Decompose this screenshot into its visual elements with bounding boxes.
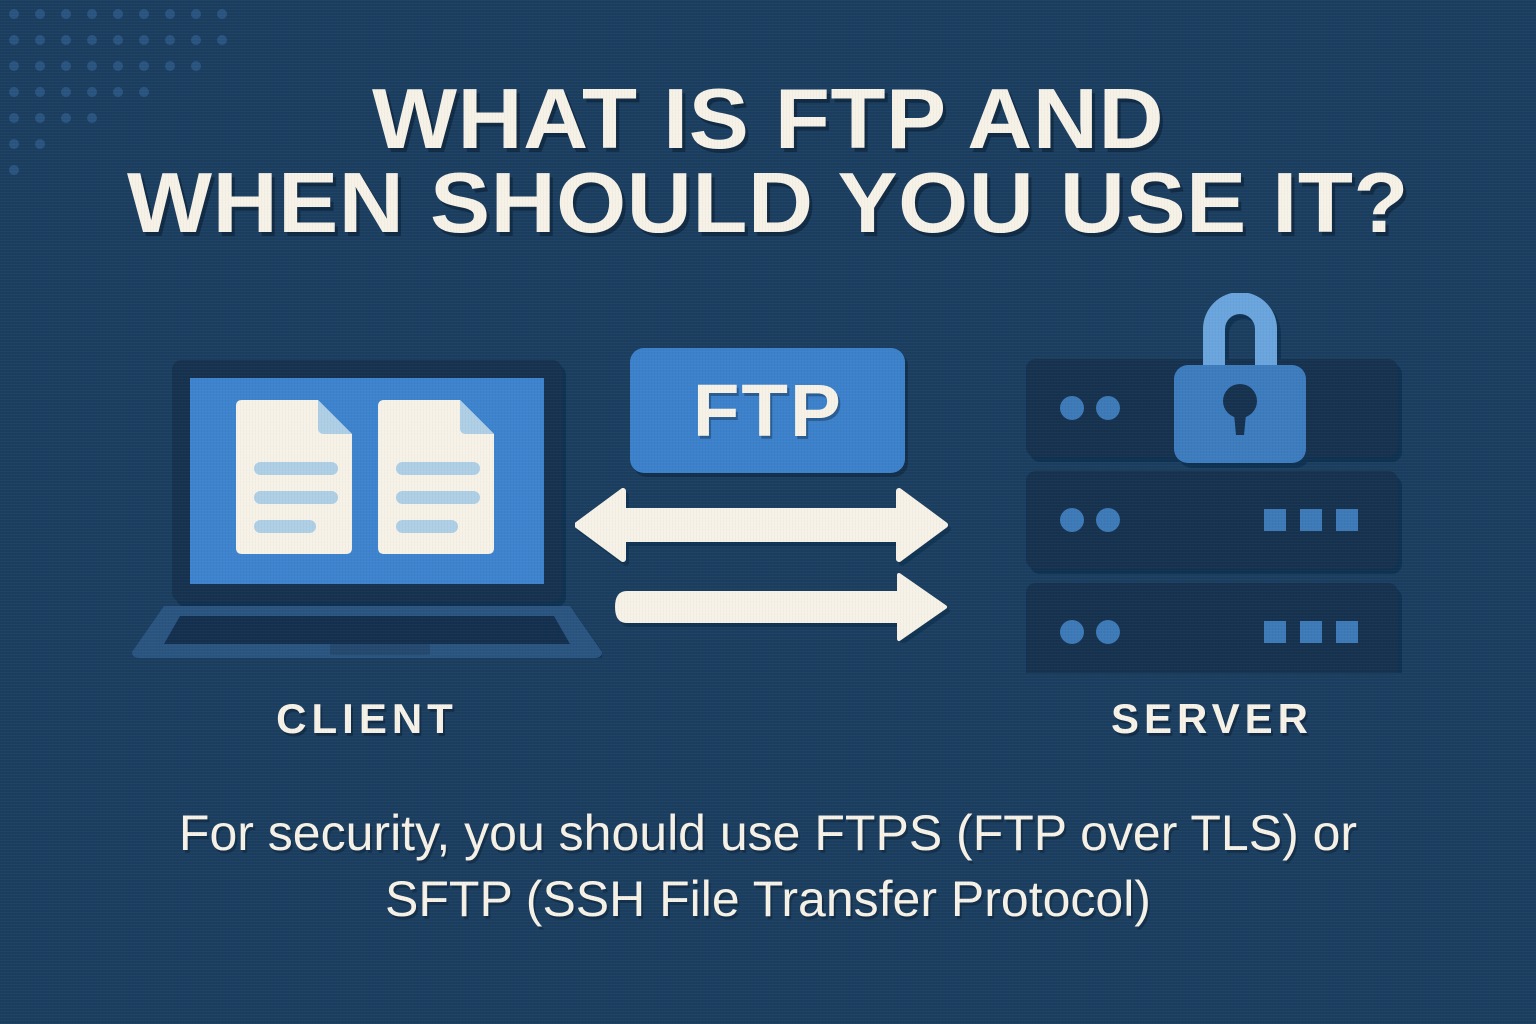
server-rack-icon xyxy=(1012,293,1412,673)
laptop-icon xyxy=(132,358,602,658)
rack-unit-2 xyxy=(1026,471,1398,569)
footer-line-1: For security, you should use FTPS (FTP o… xyxy=(0,800,1536,866)
title-line-1: WHAT IS FTP AND xyxy=(0,78,1536,162)
protocol-group: FTP xyxy=(575,338,955,638)
ftp-badge: FTP xyxy=(630,348,905,473)
client-label: CLIENT xyxy=(130,695,604,743)
document-icon-1 xyxy=(236,400,352,554)
footer-note: For security, you should use FTPS (FTP o… xyxy=(0,800,1536,932)
upload-arrow xyxy=(617,575,945,639)
title-line-2: WHEN SHOULD YOU USE IT? xyxy=(0,162,1536,246)
page-title: WHAT IS FTP AND WHEN SHOULD YOU USE IT? xyxy=(0,78,1536,246)
server-label: SERVER xyxy=(1012,695,1412,743)
bidirectional-arrow xyxy=(577,491,945,559)
rack-unit-3 xyxy=(1026,583,1398,673)
ftp-diagram: FTP xyxy=(0,288,1536,708)
transfer-arrows xyxy=(575,483,955,643)
document-icon-2 xyxy=(378,400,494,554)
ftp-badge-label: FTP xyxy=(692,368,842,453)
padlock-icon xyxy=(1174,293,1306,463)
footer-line-2: SFTP (SSH File Transfer Protocol) xyxy=(0,866,1536,932)
